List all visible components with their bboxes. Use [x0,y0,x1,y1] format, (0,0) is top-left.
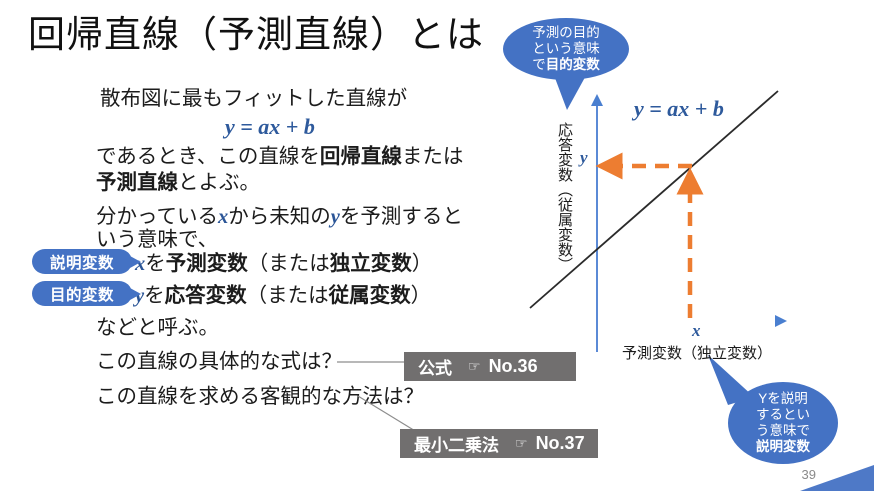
x-axis-caption: 予測変数（独立変数） [622,342,772,363]
y-tick-label: y [580,148,588,168]
callout-line-1: Yを説明 [758,391,808,407]
term-prediction-line: 予測直線 [96,171,178,194]
body-line-7-e: ） [411,284,432,307]
reference-label: 公式 [418,354,452,379]
body-line-4-b: から未知の [228,205,331,228]
body-line-7-c: （または [247,284,329,307]
body-line-2-tail: または [402,145,464,168]
callout-line-3-term: 目的変数 [546,57,600,72]
badge-label: 説明変数 [50,251,114,273]
term-independent: 独立変数 [330,252,412,275]
body-line-8: などと呼ぶ。 [96,318,219,339]
callout-line-3: う意味で [756,423,810,439]
var-y-inline-1: y [331,206,340,228]
inline-formula: y = ax + b [225,114,315,140]
term-regression-line: 回帰直線 [320,145,402,168]
body-line-6-a: を [145,252,166,275]
pointing-hand-icon: ☞ [468,358,481,375]
slide-canvas: 回帰直線（予測直線）とは 散布図に最もフィットした直線が y = ax + b … [0,0,874,491]
body-line-7: yを応答変数（または従属変数） [135,286,431,307]
body-line-9: この直線の具体的な式は？ [96,352,342,373]
badge-explanatory-variable[interactable]: 説明変数 [32,249,132,274]
term-response: 応答変数 [165,284,247,307]
body-line-6-e: ） [412,252,433,275]
body-line-10: この直線を求める客観的な方法は？ [96,387,424,408]
callout-line-3-prefix: で [532,57,546,72]
reference-number: No.37 [536,433,585,454]
reference-box-least-squares[interactable]: 最小二乗法 ☞ No.37 [400,429,598,458]
regression-graph: y = ax + b y x 応答変数（従属変数） 予測変数（独立変数） [500,80,874,360]
graph-formula: y = ax + b [634,96,724,122]
reference-label: 最小二乗法 [414,431,499,456]
var-x-inline-1: x [218,206,228,228]
term-dependent: 従属変数 [329,284,411,307]
body-line-6: xを予測変数（または独立変数） [135,254,432,275]
body-line-5: いう意味で、 [96,230,218,251]
badge-tail-icon [130,256,141,268]
callout-line-2: するとい [756,407,810,423]
y-axis-caption: 応答変数（従属変数） [557,122,572,312]
body-line-4-a: 分かっている [96,205,218,228]
badge-objective-variable[interactable]: 目的変数 [32,281,132,306]
body-line-1: 散布図に最もフィットした直線が [100,89,407,110]
body-line-4-c: を予測すると [340,205,463,228]
callout-explanatory-variable[interactable]: Yを説明 するとい う意味で 説明変数 [728,382,838,464]
x-tick-label: x [692,321,701,341]
body-line-2: であるとき、この直線を回帰直線または [96,147,463,168]
page-title: 回帰直線（予測直線）とは [28,14,484,57]
callout-line-3: で目的変数 [532,57,600,73]
badge-tail-icon [130,288,141,300]
body-line-6-c: （または [248,252,330,275]
body-line-3: 予測直線とよぶ。 [96,173,260,194]
pointing-hand-icon: ☞ [515,435,528,452]
term-predictor: 予測変数 [166,252,248,275]
callout-line-2: という意味 [532,41,600,57]
body-line-2-text: であるとき、この直線を [96,145,320,168]
callout-objective-variable[interactable]: 予測の目的 という意味 で目的変数 [503,18,629,80]
badge-label: 目的変数 [50,283,114,305]
callout-line-4: 説明変数 [756,439,810,455]
body-line-3-tail: とよぶ。 [178,171,260,194]
body-line-7-a: を [144,284,165,307]
corner-decoration [800,465,874,491]
callout-line-1: 予測の目的 [532,25,600,41]
body-line-4: 分かっているxから未知のyを予測すると [96,207,463,228]
